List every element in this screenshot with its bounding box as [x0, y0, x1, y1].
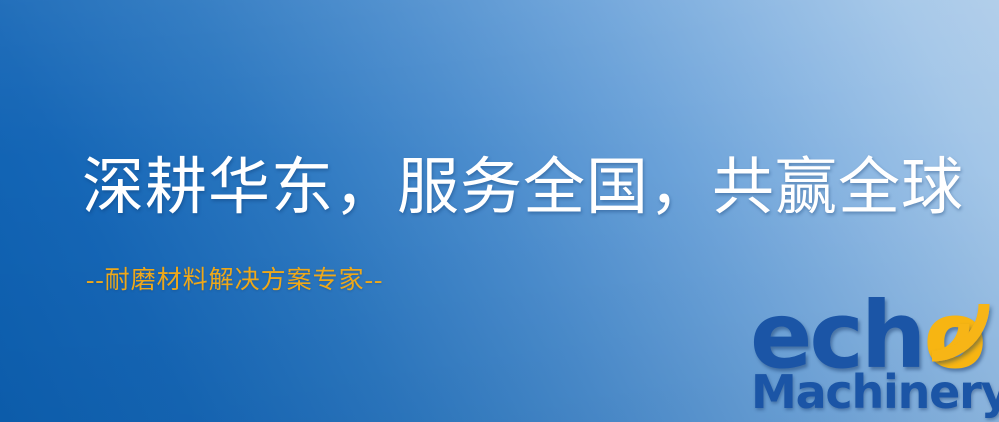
- signal-waves-icon: [926, 294, 999, 370]
- banner-headline: 深耕华东，服务全国，共赢全球: [82, 152, 964, 224]
- banner-subheadline: --耐磨材料解决方案专家--: [86, 266, 383, 296]
- logo-wordmark: echo Machinery®: [748, 296, 999, 422]
- logo-brand-machinery: Machinery®: [751, 368, 999, 421]
- logo-machinery-text: Machinery: [751, 365, 999, 419]
- hero-banner: 深耕华东，服务全国，共赢全球 --耐磨材料解决方案专家-- echo: [0, 0, 999, 422]
- company-logo[interactable]: echo Machinery®: [748, 296, 999, 422]
